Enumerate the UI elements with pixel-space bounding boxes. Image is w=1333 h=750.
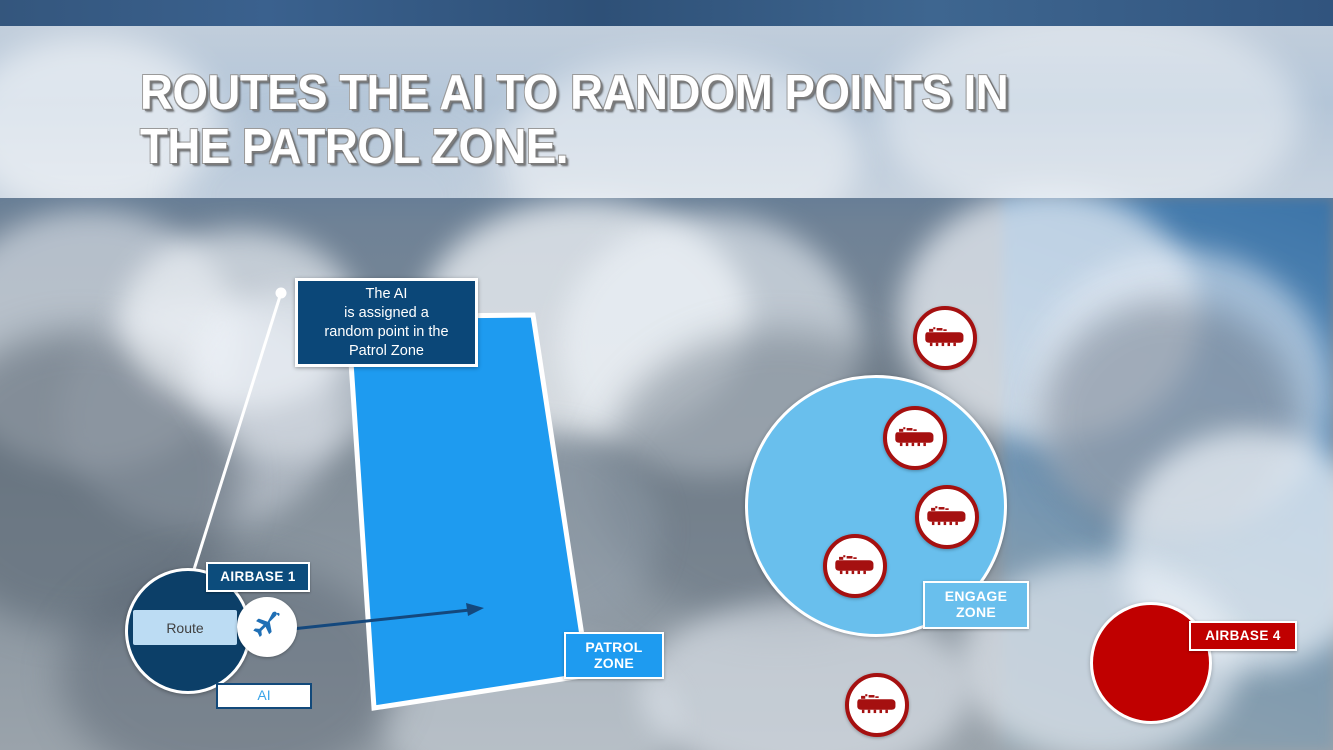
fighter-jet-icon: [245, 603, 289, 652]
vehicle-marker-4[interactable]: [823, 534, 887, 598]
engage-zone-label-line2: ZONE: [956, 605, 996, 621]
vehicle-marker-5[interactable]: [845, 673, 909, 737]
airbase4-label[interactable]: AIRBASE 4: [1189, 621, 1297, 651]
airbase1-label[interactable]: AIRBASE 1: [206, 562, 310, 592]
armored-vehicle-icon: [834, 551, 876, 582]
patrol-zone-label[interactable]: PATROL ZONE: [564, 632, 664, 679]
ai-label[interactable]: AI: [216, 683, 312, 709]
vehicle-marker-3[interactable]: [915, 485, 979, 549]
patrol-zone-label-line2: ZONE: [594, 656, 634, 672]
armored-vehicle-icon: [924, 323, 966, 354]
ai-jet-marker[interactable]: [237, 597, 297, 657]
page-title: ROUTES THE AI TO RANDOM POINTS IN THE PA…: [140, 66, 1126, 174]
patrol-zone-shape[interactable]: [348, 315, 588, 708]
armored-vehicle-icon: [926, 502, 968, 533]
vehicle-marker-1[interactable]: [913, 306, 977, 370]
engage-zone-label-line1: ENGAGE: [945, 589, 1007, 605]
patrol-zone-label-line1: PATROL: [585, 640, 642, 656]
ai-assignment-callout: The AI is assigned a random point in the…: [295, 278, 478, 367]
top-sky-strip: [0, 0, 1333, 26]
vehicle-marker-2[interactable]: [883, 406, 947, 470]
slide-canvas: ROUTES THE AI TO RANDOM POINTS IN THE PA…: [0, 0, 1333, 750]
route-box[interactable]: Route: [133, 610, 237, 645]
engage-zone-label[interactable]: ENGAGE ZONE: [923, 581, 1029, 629]
title-banner: ROUTES THE AI TO RANDOM POINTS IN THE PA…: [0, 26, 1333, 198]
armored-vehicle-icon: [894, 423, 936, 454]
armored-vehicle-icon: [856, 690, 898, 721]
